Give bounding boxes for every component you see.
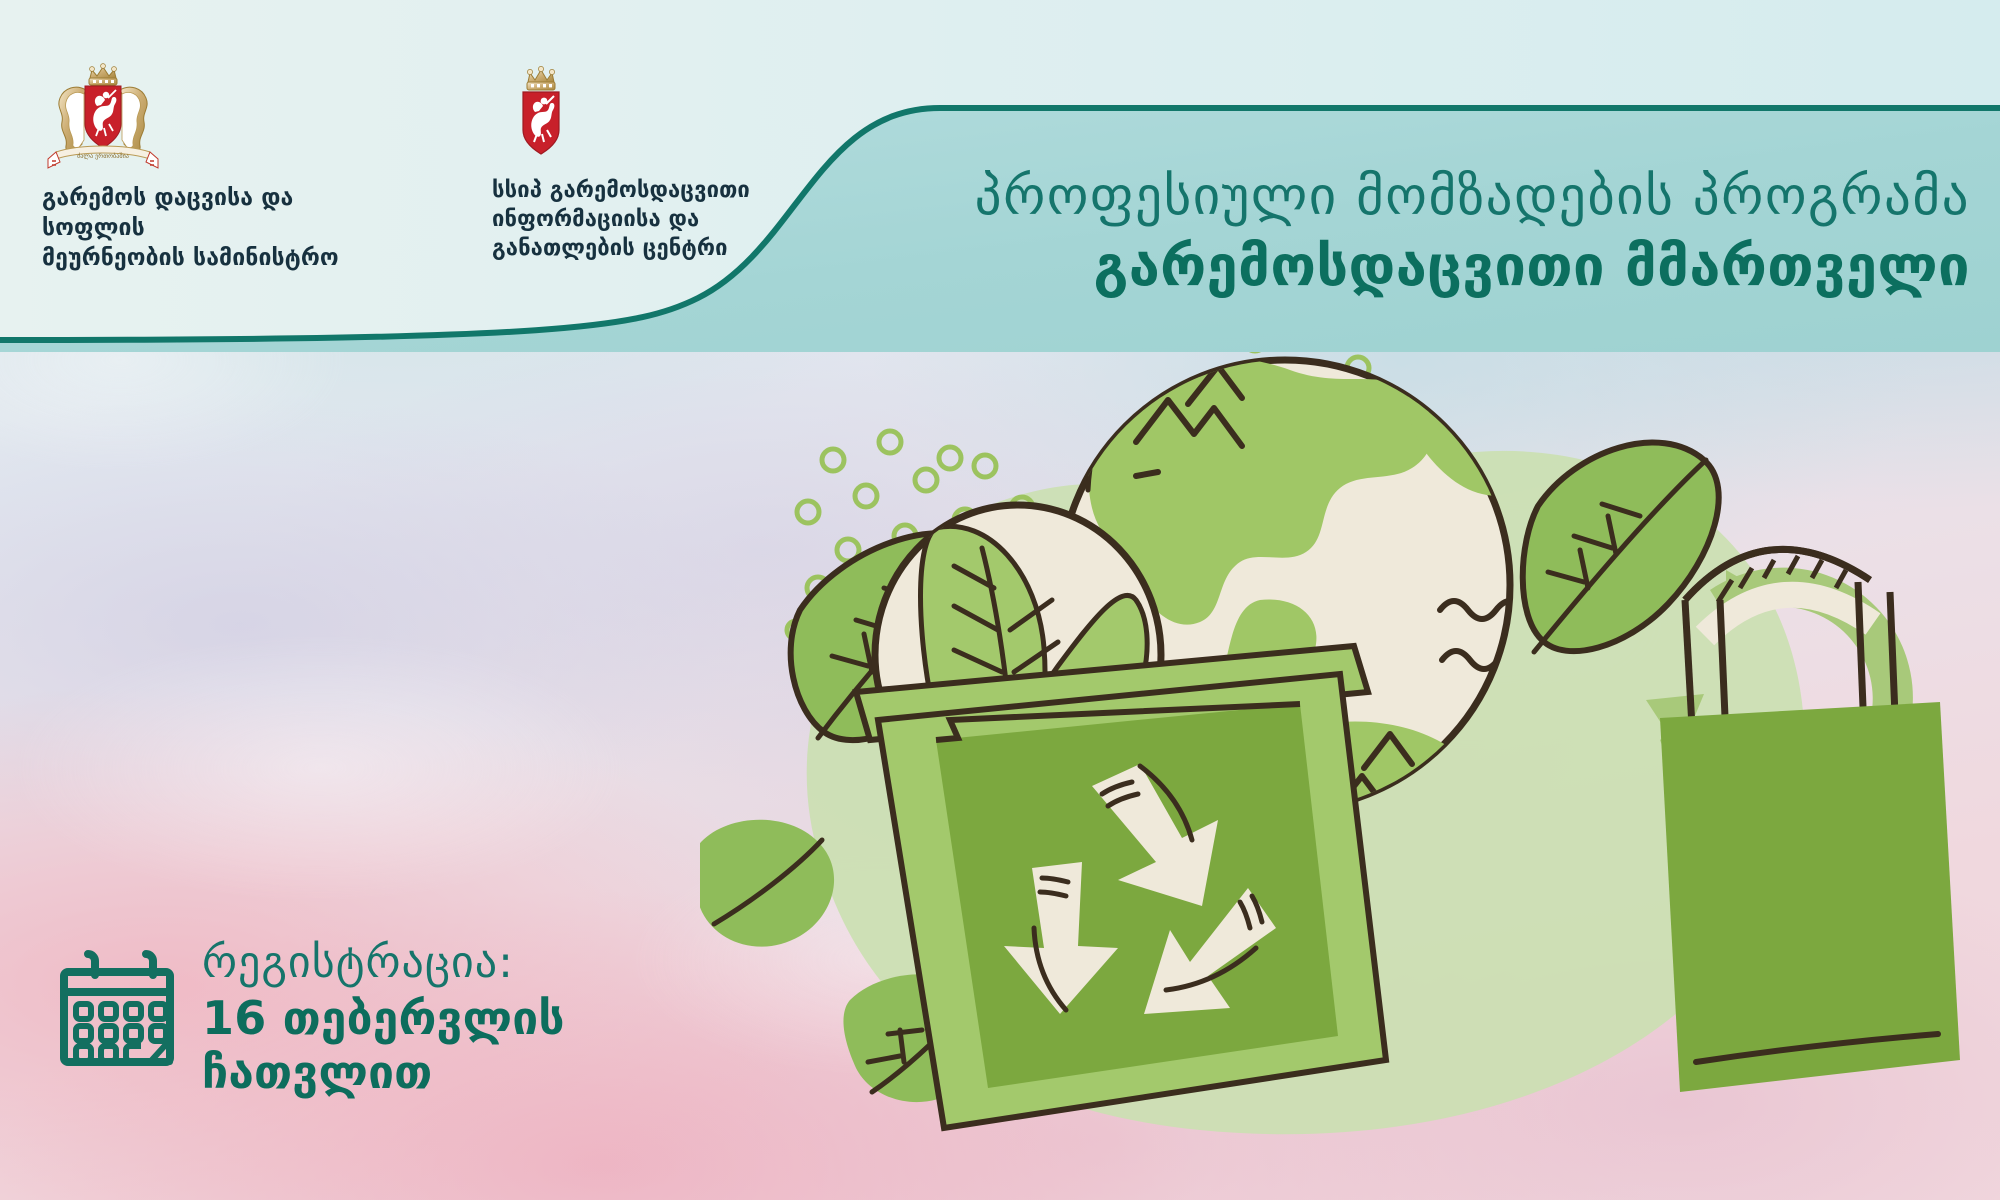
title-group: პროფესიული მომზადების პროგრამა გარემოსდა… (740, 168, 1970, 298)
reusable-shopping-bag-icon (1660, 549, 1960, 1092)
ministry-logo-text: გარემოს დაცვისა და სოფლის მეურნეობის სამ… (42, 184, 372, 274)
georgia-coat-of-arms-icon: ძალა ერთობაშია (42, 62, 372, 170)
registration-label: რეგისტრაცია: (202, 940, 565, 986)
ministry-logo-line-2: მეურნეობის სამინისტრო (42, 244, 372, 274)
header-band: ძალა ერთობაშია გარემოს დაცვისა და სოფლის… (0, 0, 2000, 352)
ministry-logo: ძალა ერთობაშია გარემოს დაცვისა და სოფლის… (42, 62, 372, 274)
registration-block: რეგისტრაცია: 16 თებერვლის ჩათვლით (58, 938, 565, 1099)
registration-text: რეგისტრაცია: 16 თებერვლის ჩათვლით (202, 938, 565, 1099)
calendar-icon (58, 944, 176, 1078)
program-name: გარემოსდაცვითი მმართველი (740, 237, 1970, 297)
poster-canvas: ძალა ერთობაშია გარემოს დაცვისა და სოფლის… (0, 0, 2000, 1200)
georgia-small-emblem-icon (492, 62, 832, 162)
ministry-logo-line-1: გარემოს დაცვისა და სოფლის (42, 184, 372, 244)
registration-deadline: 16 თებერვლის ჩათვლით (202, 992, 565, 1099)
registration-deadline-line-1: 16 თებერვლის (202, 992, 565, 1045)
recycling-bin-icon (700, 646, 1386, 1128)
program-label: პროფესიული მომზადების პროგრამა (740, 168, 1970, 225)
registration-deadline-line-2: ჩათვლით (202, 1046, 565, 1099)
eco-illustration (700, 300, 2000, 1200)
coat-of-arms-motto: ძალა ერთობაშია (77, 151, 129, 160)
